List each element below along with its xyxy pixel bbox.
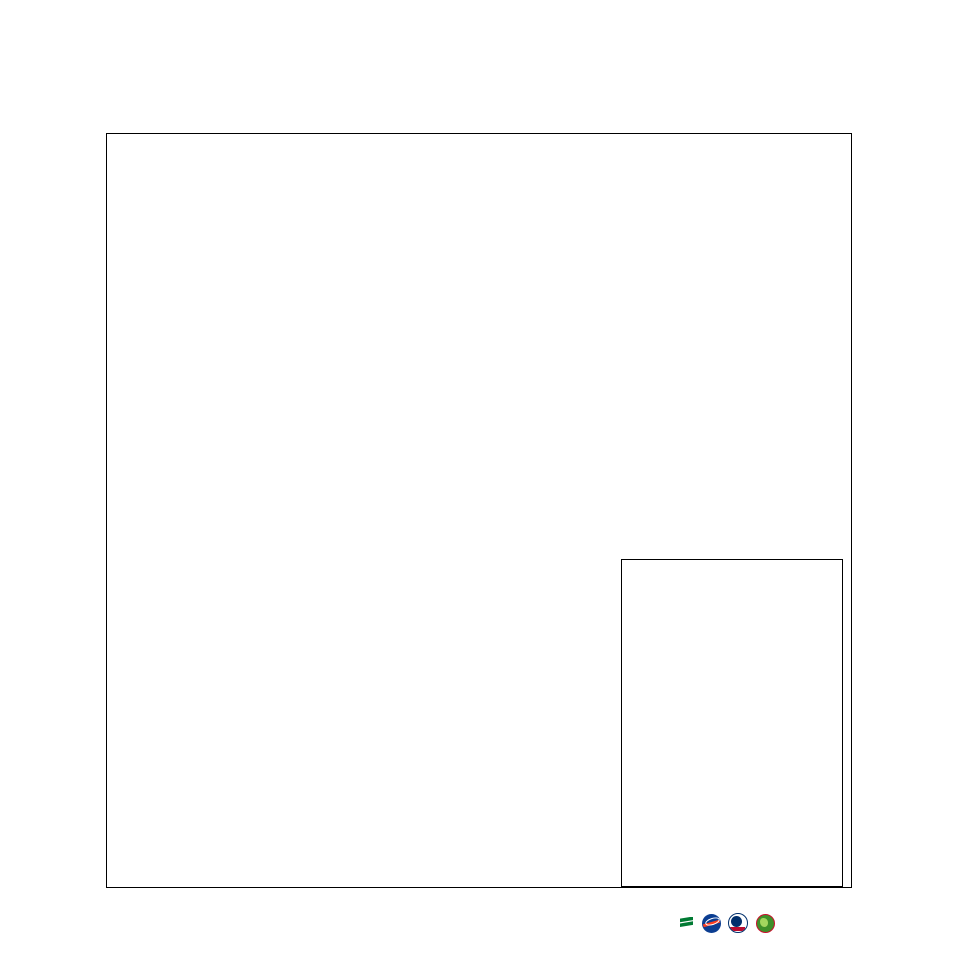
usaid-logo: [728, 911, 749, 935]
nasa-logo: [702, 911, 721, 935]
fewsnet-logo: [756, 911, 777, 935]
legend-panel: [621, 559, 843, 887]
nasa-meatball-icon: [702, 914, 721, 933]
fewsnet-globe-icon: [756, 914, 775, 933]
usaid-seal-icon: [728, 913, 748, 933]
partner-logos: [680, 909, 777, 937]
usgs-logo: [680, 911, 695, 935]
usgs-wave-icon: [680, 917, 693, 929]
map-page: [0, 0, 960, 960]
